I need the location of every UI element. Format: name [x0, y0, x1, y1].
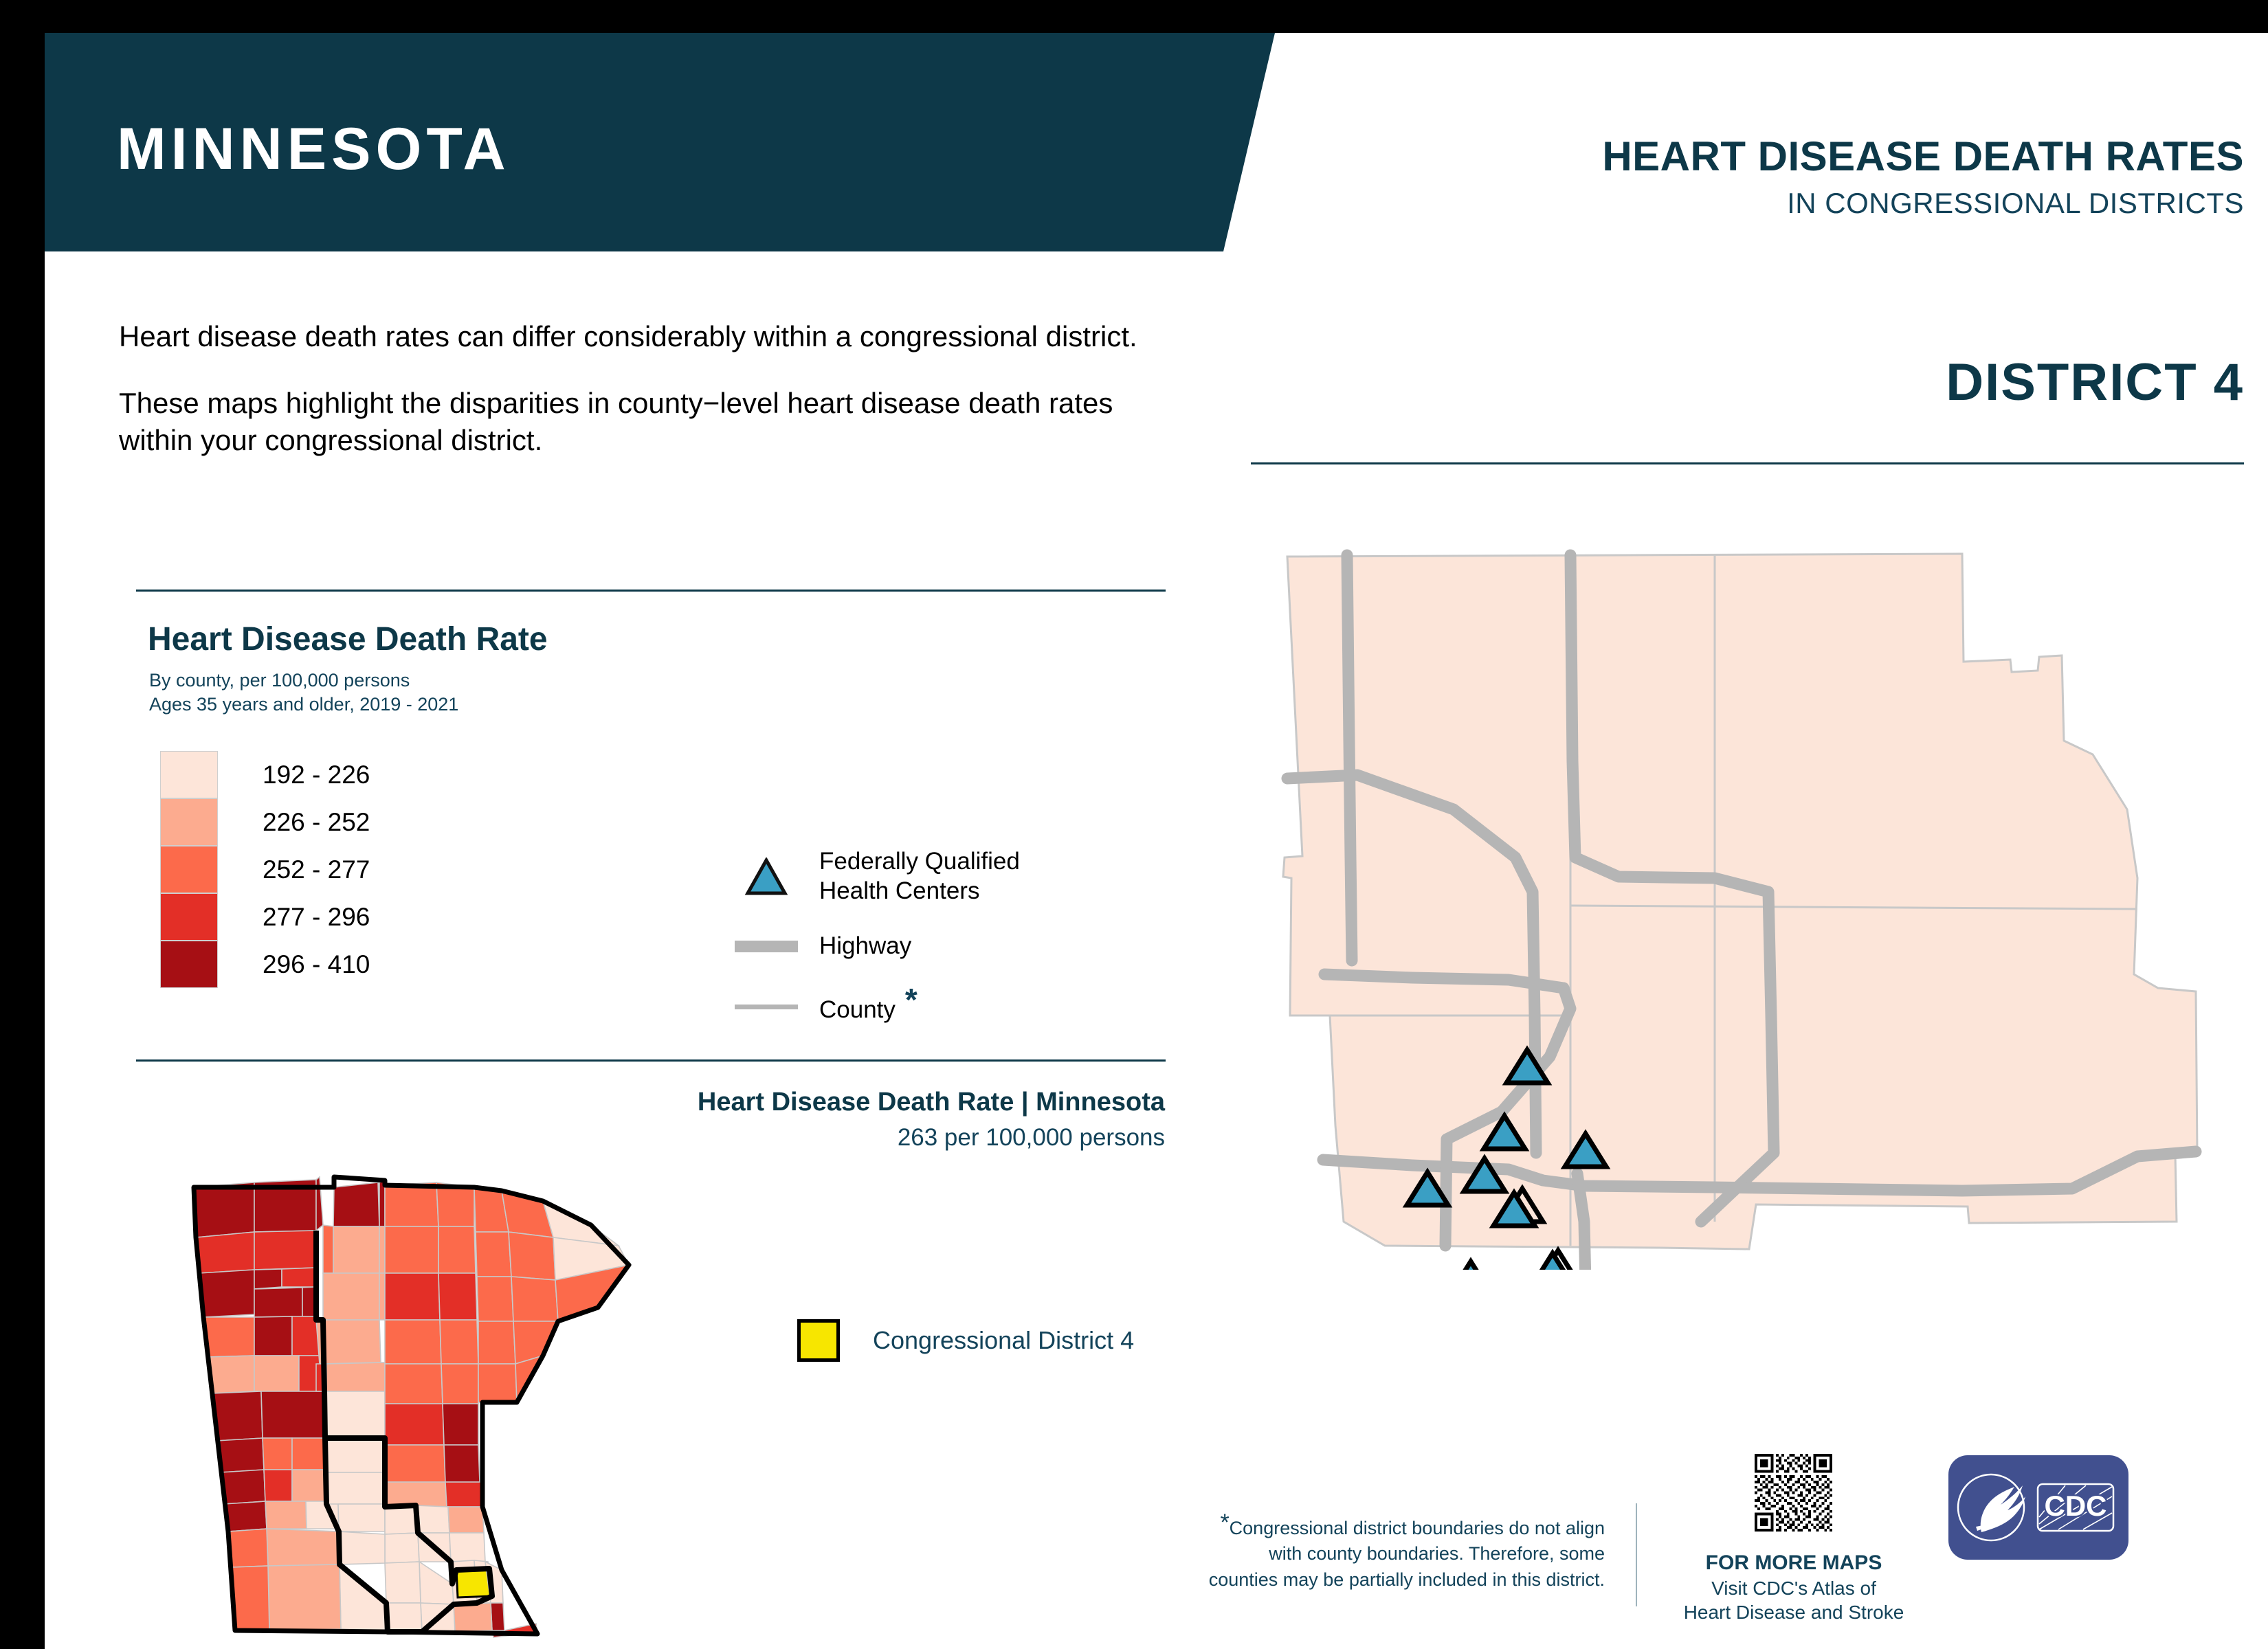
intro-text: Heart disease death rates can differ con… [119, 318, 1150, 460]
legend-swatch-4 [160, 893, 218, 941]
county-asterisk: * [905, 982, 918, 1018]
legend-label-2: 226 - 252 [263, 808, 370, 837]
fqhc-triangle-icon [745, 857, 788, 896]
district-4-label: Congressional District 4 [873, 1326, 1134, 1355]
legend-county-row: County* [729, 987, 1020, 1026]
legend-label-5: 296 - 410 [263, 950, 370, 979]
district-color-legend: Congressional District 4 [797, 1319, 1134, 1362]
highway-swatch [735, 941, 798, 952]
district-boundary [1283, 554, 2197, 1249]
poster-page: MINNESOTA HEART DISEASE DEATH RATES IN C… [45, 33, 2268, 1649]
fqhc-label-line-2: Health Centers [819, 877, 1020, 906]
page-title: HEART DISEASE DEATH RATES [1602, 136, 2244, 177]
state-stat-value: 263 per 100,000 persons [430, 1124, 1165, 1152]
cdc-wordmark-icon: CDC [2038, 1484, 2113, 1531]
state-name: MINNESOTA [117, 115, 511, 183]
legend-class-row: 296 - 410 [160, 941, 370, 988]
cdc-hhs-logo[interactable]: CDC [1948, 1455, 2128, 1560]
intro-spacer [119, 356, 1150, 385]
divider-middle [136, 1059, 1166, 1062]
highway-line-icon [729, 941, 804, 952]
legend-highway-row: Highway [729, 932, 1020, 961]
more-maps-line-2: Heart Disease and Stroke [1667, 1600, 1921, 1624]
legend-class-row: 252 - 277 [160, 846, 370, 893]
legend-subtitle-line-2: Ages 35 years and older, 2019 - 2021 [149, 693, 458, 717]
divider-top [136, 590, 1166, 592]
more-maps-line-1: Visit CDC's Atlas of [1667, 1576, 1921, 1600]
county-label-text: County [819, 996, 896, 1023]
footnote-line-1: Congressional district boundaries do not… [1230, 1518, 1605, 1538]
state-stat-title: Heart Disease Death Rate | Minnesota [430, 1088, 1165, 1117]
legend-swatch-5 [160, 941, 218, 988]
symbol-legend: Federally Qualified Health Centers Highw… [729, 847, 1020, 1052]
state-county-choropleth [194, 1177, 629, 1637]
legend-subtitle-line-1: By county, per 100,000 persons [149, 669, 458, 693]
qr-code-icon[interactable] [1755, 1454, 1832, 1532]
cdc-logo-icon: CDC [1948, 1455, 2128, 1560]
district-4-swatch [797, 1319, 840, 1362]
hhs-seal-icon [1958, 1474, 2025, 1540]
legend-swatch-3 [160, 846, 218, 893]
legend-class-row: 277 - 296 [160, 893, 370, 941]
intro-paragraph-1: Heart disease death rates can differ con… [119, 318, 1150, 356]
legend-county-label: County* [819, 987, 918, 1026]
legend-label-4: 277 - 296 [263, 903, 370, 932]
legend-class-row: 192 - 226 [160, 751, 370, 798]
more-maps-caption: FOR MORE MAPS Visit CDC's Atlas of Heart… [1667, 1550, 1921, 1624]
county-swatch [735, 1005, 798, 1009]
legend-fqhc-row: Federally Qualified Health Centers [729, 847, 1020, 906]
legend-class-row: 226 - 252 [160, 798, 370, 846]
county-line-icon [729, 1005, 804, 1009]
intro-paragraph-2: These maps highlight the disparities in … [119, 385, 1150, 460]
footnote-line-3: counties may be partially included in th… [1209, 1569, 1605, 1590]
footnote: *Congressional district boundaries do no… [1137, 1507, 1605, 1593]
footnote-asterisk: * [1220, 1510, 1229, 1536]
district-4-map[interactable] [1275, 535, 2237, 1270]
legend-title: Heart Disease Death Rate [148, 620, 548, 658]
header-title-block: HEART DISEASE DEATH RATES IN CONGRESSION… [1602, 136, 2244, 220]
triangle-icon [729, 857, 804, 896]
footnote-line-2: with county boundaries. Therefore, some [1269, 1543, 1605, 1564]
legend-label-1: 192 - 226 [263, 761, 370, 789]
legend-fqhc-label: Federally Qualified Health Centers [819, 847, 1020, 906]
legend-highway-label: Highway [819, 932, 911, 961]
page-subtitle: IN CONGRESSIONAL DISTRICTS [1602, 187, 2244, 220]
state-statistic: Heart Disease Death Rate | Minnesota 263… [430, 1088, 1165, 1152]
legend-swatch-1 [160, 751, 218, 798]
legend-swatch-2 [160, 798, 218, 846]
minnesota-state-map[interactable] [179, 1149, 660, 1644]
fqhc-label-line-1: Federally Qualified [819, 847, 1020, 877]
legend-label-3: 252 - 277 [263, 855, 370, 884]
fqhc-triangle[interactable] [1450, 1261, 1491, 1270]
legend-subtitle: By county, per 100,000 persons Ages 35 y… [149, 669, 458, 717]
color-ramp-legend: 192 - 226 226 - 252 252 - 277 277 - 296 … [160, 751, 370, 988]
svg-text:CDC: CDC [2045, 1490, 2107, 1522]
district-title: DISTRICT 4 [1946, 352, 2244, 412]
more-maps-heading: FOR MORE MAPS [1667, 1550, 1921, 1576]
footer-divider [1636, 1503, 1637, 1606]
divider-district [1251, 462, 2244, 464]
